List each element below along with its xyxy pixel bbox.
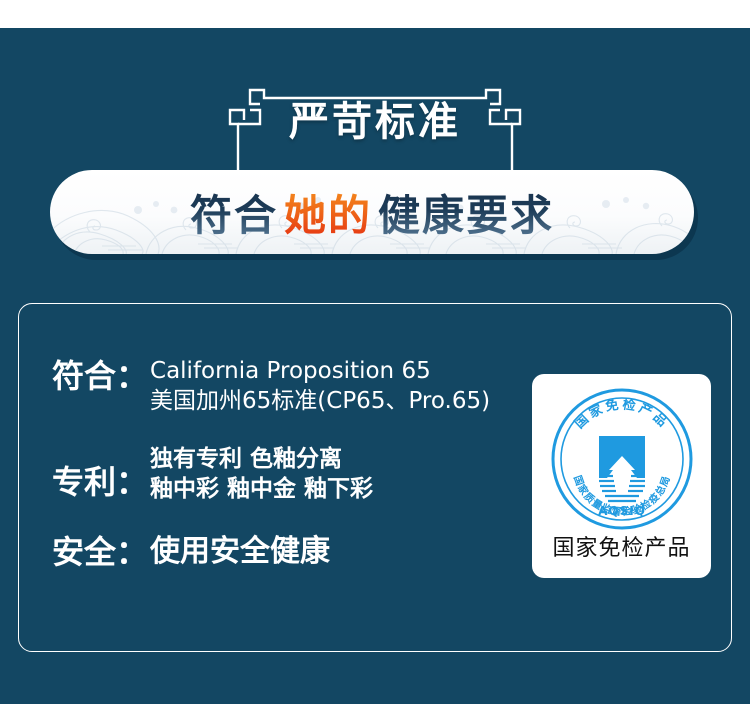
spec-list: 符合： California Proposition 65 美国加州65标准(C… (52, 356, 522, 572)
slogan-text: 符合 她的 健康要求 (50, 170, 694, 254)
spec-line: 使用安全健康 (150, 532, 522, 572)
spec-values-patent: 独有专利 色釉分离 釉中彩 釉中金 釉下彩 (148, 444, 522, 504)
spec-label-safety: 安全： (52, 532, 148, 572)
slogan-segment-1: 符合 (190, 182, 278, 243)
spec-line: California Proposition 65 (150, 356, 522, 386)
spec-line: 美国加州65标准(CP65、Pro.65) (150, 386, 522, 416)
spec-label-patent: 专利： (52, 444, 148, 502)
spec-row-compliance: 符合： California Proposition 65 美国加州65标准(C… (52, 356, 522, 416)
spec-label-compliance: 符合： (52, 356, 148, 396)
top-white-strip (0, 0, 750, 28)
spec-line: 釉中彩 釉中金 釉下彩 (150, 474, 522, 504)
promo-page: 严苛标准 (0, 0, 750, 704)
seal-acronym: AQSIQ (598, 504, 646, 518)
page-title: 严苛标准 (224, 96, 526, 148)
certification-caption: 国家免检产品 (552, 530, 690, 562)
spec-line: 独有专利 色釉分离 (150, 444, 522, 474)
slogan-highlight: 她的 (278, 182, 378, 243)
aqsiq-seal-icon: 国家免检产品 国家质量监督检验检疫总局 AQSIQ (547, 384, 697, 534)
spec-values-safety: 使用安全健康 (148, 532, 522, 572)
slogan-segment-2: 健康要求 (378, 182, 554, 243)
certification-card: 国家免检产品 国家质量监督检验检疫总局 AQSIQ 国家免检产品 (532, 374, 711, 578)
spec-row-patent: 专利： 独有专利 色釉分离 釉中彩 釉中金 釉下彩 (52, 444, 522, 504)
spec-values-compliance: California Proposition 65 美国加州65标准(CP65、… (148, 356, 522, 416)
slogan-banner: 符合 她的 健康要求 (50, 170, 694, 254)
spec-row-safety: 安全： 使用安全健康 (52, 532, 522, 572)
